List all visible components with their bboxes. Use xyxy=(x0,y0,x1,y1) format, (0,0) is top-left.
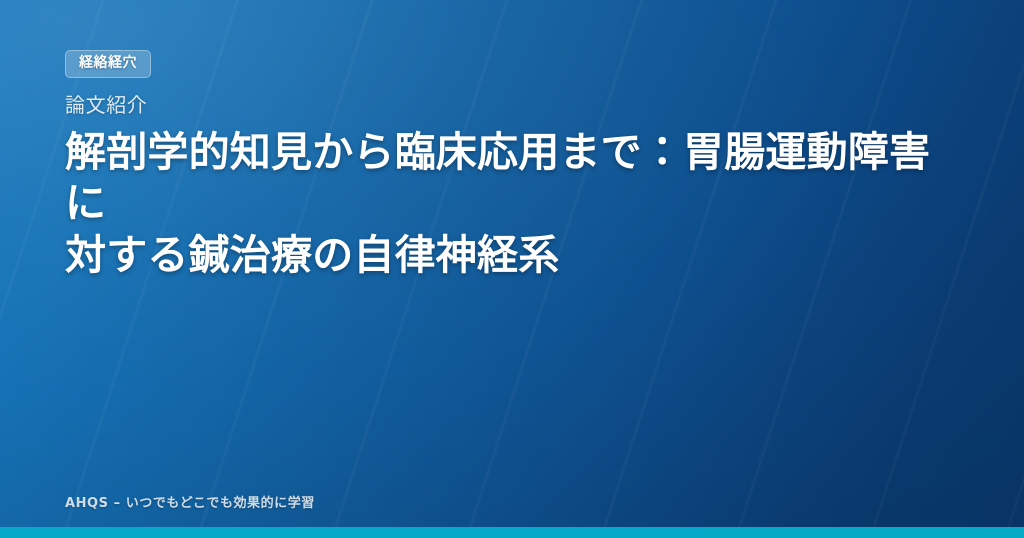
footer-brand-text: AHQS – いつでもどこでも効果的に学習 xyxy=(65,492,315,511)
page-title-line-1: 解剖学的知見から臨床応用まで：胃腸運動障害に xyxy=(65,127,955,230)
bottom-accent-bar xyxy=(0,527,1024,538)
eyebrow-label: 論文紹介 xyxy=(65,92,959,118)
page-title: 解剖学的知見から臨床応用まで：胃腸運動障害に 対する鍼治療の自律神経系 xyxy=(65,127,955,282)
page-title-line-2: 対する鍼治療の自律神経系 xyxy=(65,230,955,282)
title-card: 経絡経穴 論文紹介 解剖学的知見から臨床応用まで：胃腸運動障害に 対する鍼治療の… xyxy=(0,0,1024,538)
card-content: 経絡経穴 論文紹介 解剖学的知見から臨床応用まで：胃腸運動障害に 対する鍼治療の… xyxy=(65,50,959,282)
category-badge: 経絡経穴 xyxy=(65,50,151,78)
